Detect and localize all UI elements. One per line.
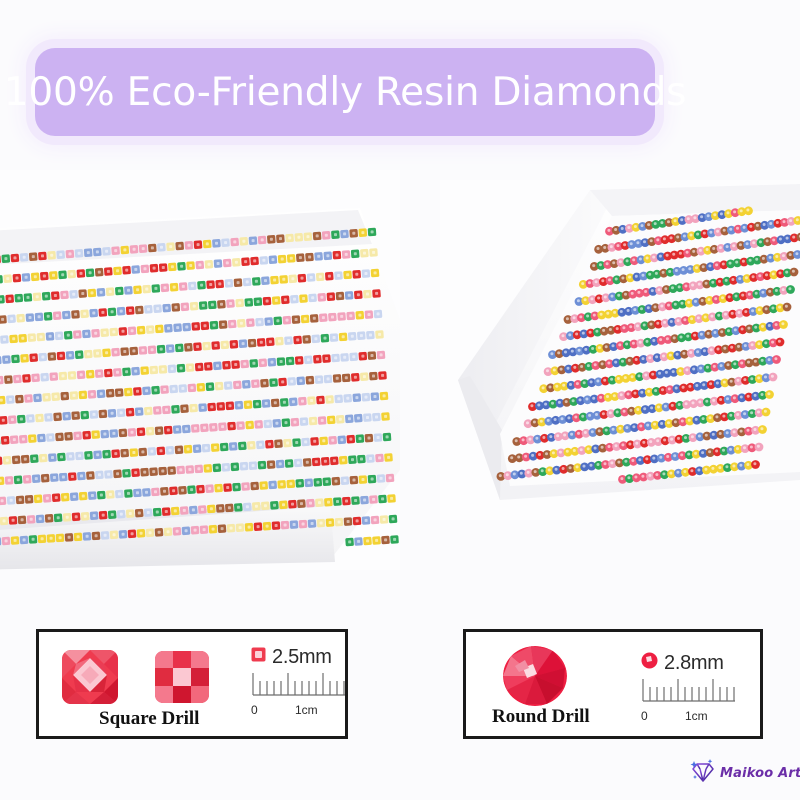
headline-banner-text: 100% Eco-Friendly Resin Diamonds [4,70,687,115]
diamond-icon [690,758,716,789]
headline-banner: 100% Eco-Friendly Resin Diamonds [35,48,655,136]
square-drill-ruler: 0 1cm [251,671,347,717]
round-drill-ruler-cm: 1cm [685,709,708,723]
square-drill-spec-box: Square Drill 2.5mm [36,629,348,739]
square-drill-size-swatch-icon [251,647,266,667]
round-drill-ruler-ticks [641,677,737,703]
round-drill-size-text: 2.8mm [664,652,724,675]
round-drill-size-block: 2.8mm [641,652,737,723]
square-drills-photo [0,170,400,570]
square-drill-ruler-zero: 0 [251,703,258,717]
square-drill-size-block: 2.5mm [251,646,347,717]
round-drill-size-swatch-icon [641,652,658,674]
round-drill-gem-view [501,644,569,713]
square-drill-size-text: 2.5mm [272,646,332,669]
square-drill-gem-side-view [59,648,121,711]
square-drill-gem-top-view [153,650,211,709]
square-drills-illustration [0,170,400,570]
square-drill-label: Square Drill [99,708,199,730]
round-drills-illustration [440,180,800,520]
round-drill-ruler-zero: 0 [641,709,648,723]
watermark: Maikoo Art [690,758,790,788]
watermark-text: Maikoo Art [720,766,800,781]
round-drill-spec-box: Round Drill 2.8mm [463,629,763,739]
square-drill-ruler-ticks [251,671,347,697]
round-drill-ruler: 0 1cm [641,677,737,723]
round-drills-photo [440,180,800,520]
round-drill-label: Round Drill [492,706,590,728]
headline-banner-pill: 100% Eco-Friendly Resin Diamonds [35,48,655,136]
square-drill-ruler-cm: 1cm [295,703,318,717]
